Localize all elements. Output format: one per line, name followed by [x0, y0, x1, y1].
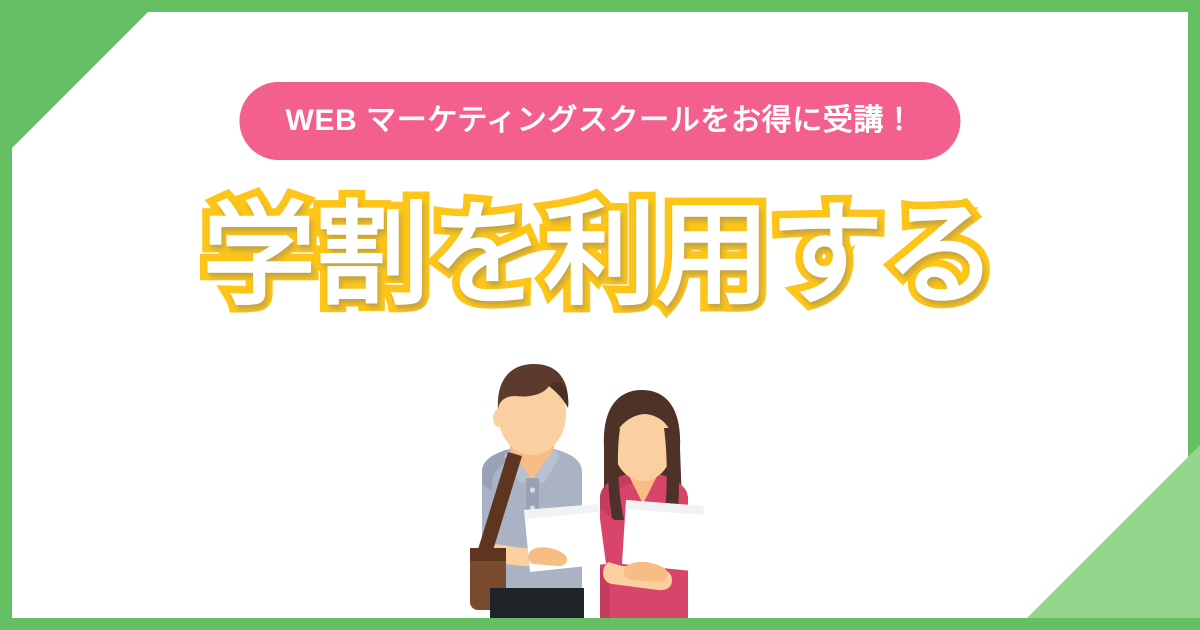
page-title: 学割を利用する	[203, 192, 998, 319]
frame-band-bottom-overlay	[0, 618, 1200, 630]
promo-banner: WEB マーケティングスクールをお得に受講！ 学割を利用する	[0, 0, 1200, 630]
frame-band-top	[0, 0, 1200, 12]
corner-wedge-top-left	[0, 0, 160, 160]
corner-wedge-bottom-right	[1015, 445, 1200, 630]
subtitle-badge: WEB マーケティングスクールをお得に受講！	[239, 82, 960, 160]
students-illustration	[452, 352, 752, 618]
subtitle-badge-label: WEB マーケティングスクールをお得に受講！	[285, 106, 914, 136]
headline-container: 学割を利用する	[0, 192, 1200, 319]
students-illustration-svg	[452, 352, 752, 618]
